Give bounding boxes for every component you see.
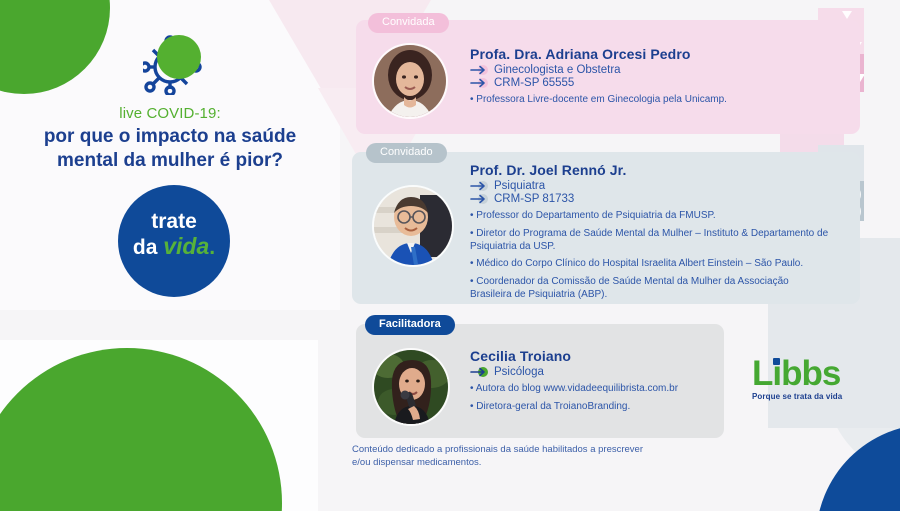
speaker-role-1b: CRM-SP 65555: [494, 77, 574, 89]
arrow-icon: [470, 366, 488, 378]
live-label: live COVID-19:: [20, 105, 320, 122]
speaker-role-row: Psicóloga: [470, 366, 730, 378]
speaker-role-3a: Psicóloga: [494, 366, 544, 378]
speaker-crm-row: CRM-SP 81733: [470, 193, 830, 205]
speaker-info-2: Prof. Dr. Joel Rennó Jr. Psiquiatra CRM-…: [470, 162, 830, 307]
speaker-bullets-3: • Autora do blog www.vidadeequilibrista.…: [470, 383, 730, 414]
badge-convidada: Convidada: [368, 13, 449, 33]
speaker-role-row: Psiquiatra: [470, 180, 830, 192]
title-line-2: mental da mulher é pior?: [20, 149, 320, 173]
logo-dot: .: [209, 236, 215, 259]
badge-convidado: Convidado: [366, 143, 447, 163]
speaker-info-1: Profa. Dra. Adriana Orcesi Pedro Ginecol…: [470, 46, 810, 112]
speaker-bullets-1: • Professora Livre-docente em Ginecologi…: [470, 94, 810, 107]
speaker-role-row: Ginecologista e Obstetra: [470, 64, 810, 76]
speaker-role-2b: CRM-SP 81733: [494, 193, 574, 205]
speaker-name-3: Cecilia Troiano: [470, 348, 730, 364]
speaker-role-2a: Psiquiatra: [494, 180, 545, 192]
speaker-name-2: Prof. Dr. Joel Rennó Jr.: [470, 162, 830, 178]
libbs-i-dot: [773, 358, 780, 365]
libbs-tagline: Porque se trata da vida: [752, 392, 857, 401]
bullet-item: • Professor do Departamento de Psiquiatr…: [470, 210, 830, 223]
badge-facilitadora: Facilitadora: [365, 315, 455, 335]
footer-disclaimer: Conteúdo dedicado a profissionais da saú…: [352, 444, 752, 470]
title-block: live COVID-19: por que o impacto na saúd…: [20, 105, 320, 174]
footer-line-1: Conteúdo dedicado a profissionais da saú…: [352, 444, 752, 457]
speaker-info-3: Cecilia Troiano Psicóloga • Autora do bl…: [470, 348, 730, 419]
bullet-item: • Coordenador da Comissão de Saúde Menta…: [470, 276, 830, 302]
avatar-adriana-orcesi-pedro: [372, 43, 448, 119]
coronavirus-icon: [143, 33, 205, 95]
poster-canvas: live COVID-19: por que o impacto na saúd…: [0, 0, 900, 511]
speaker-bullets-2: • Professor do Departamento de Psiquiatr…: [470, 210, 830, 302]
speaker-name-1: Profa. Dra. Adriana Orcesi Pedro: [470, 46, 810, 62]
speaker-crm-row: CRM-SP 65555: [470, 77, 810, 89]
libbs-logo: Libbs Porque se trata da vida: [752, 356, 857, 401]
logo-line-2-vida: vida: [163, 233, 209, 259]
bullet-item: • Diretor do Programa de Saúde Mental da…: [470, 228, 830, 254]
avatar-cecilia-troiano: [372, 348, 450, 426]
bullet-item: • Diretora-geral da TroianoBranding.: [470, 401, 730, 414]
arrow-icon: [470, 77, 488, 89]
avatar-joel-renno-jr: [372, 185, 454, 267]
bullet-item: • Professora Livre-docente em Ginecologi…: [470, 94, 810, 107]
arrow-icon: [470, 193, 488, 205]
logo-line-2-da: da: [133, 236, 158, 259]
bullet-item: • Médico do Corpo Clínico do Hospital Is…: [470, 258, 830, 271]
trate-da-vida-logo: trate da vida.: [118, 185, 230, 297]
arrow-icon: [470, 64, 488, 76]
footer-line-2: e/ou dispensar medicamentos.: [352, 457, 752, 470]
logo-line-1: trate: [118, 211, 230, 232]
libbs-wordmark: Libbs: [752, 356, 857, 391]
title-line-1: por que o impacto na saúde: [20, 125, 320, 149]
arrow-icon: [470, 180, 488, 192]
speaker-role-1a: Ginecologista e Obstetra: [494, 64, 621, 76]
bullet-item: • Autora do blog www.vidadeequilibrista.…: [470, 383, 730, 396]
